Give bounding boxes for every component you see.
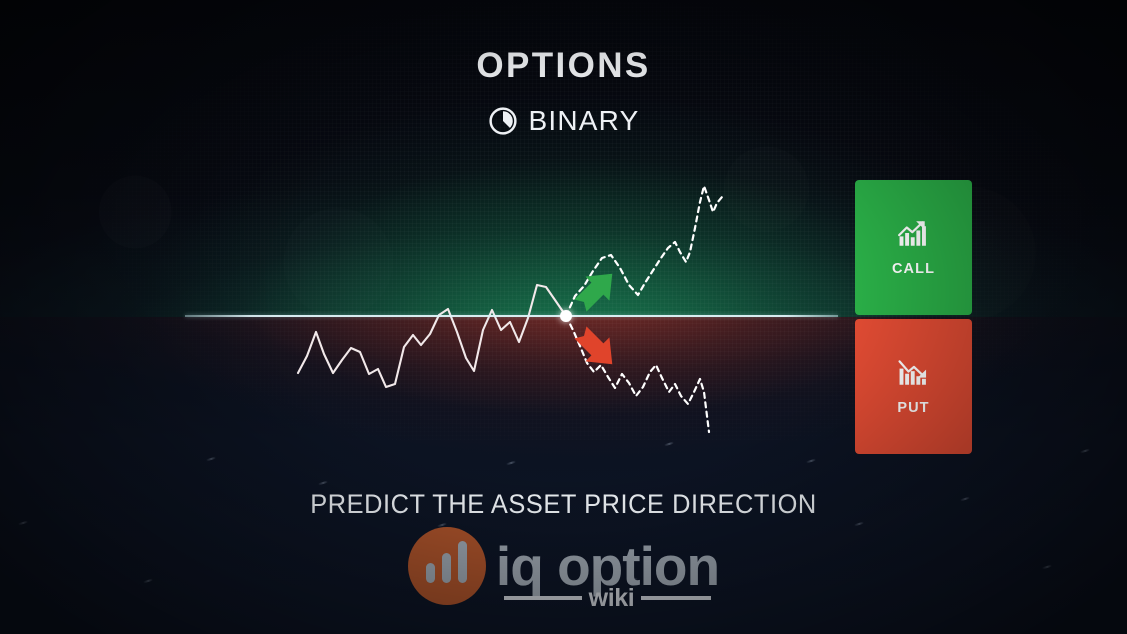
logo-sub-label: wiki <box>589 586 635 611</box>
logo-rule-right <box>641 596 711 600</box>
trend-up-bars-icon <box>897 219 931 247</box>
logo[interactable]: iq option wiki <box>0 527 1127 605</box>
put-direction-arrow <box>568 320 624 376</box>
call-direction-arrow <box>568 262 624 318</box>
tagline: PREDICT THE ASSET PRICE DIRECTION <box>34 489 1093 520</box>
logo-text: iq option wiki <box>496 540 719 592</box>
history-line-group <box>298 285 566 387</box>
trend-down-bars-icon <box>897 358 931 386</box>
current-price-dot <box>560 310 572 322</box>
call-button-label: CALL <box>892 261 935 277</box>
put-button[interactable]: PUT <box>855 319 972 454</box>
put-button-label: PUT <box>897 400 929 416</box>
call-button[interactable]: CALL <box>855 180 972 315</box>
logo-sub-row: wiki <box>496 586 719 611</box>
strike-price-line <box>185 315 838 317</box>
logo-rule-left <box>504 596 582 600</box>
bar-chart-circle-icon <box>408 527 486 605</box>
binary-options-promo: OPTIONS BINARY <box>0 0 1127 634</box>
history-price-line <box>298 285 566 387</box>
